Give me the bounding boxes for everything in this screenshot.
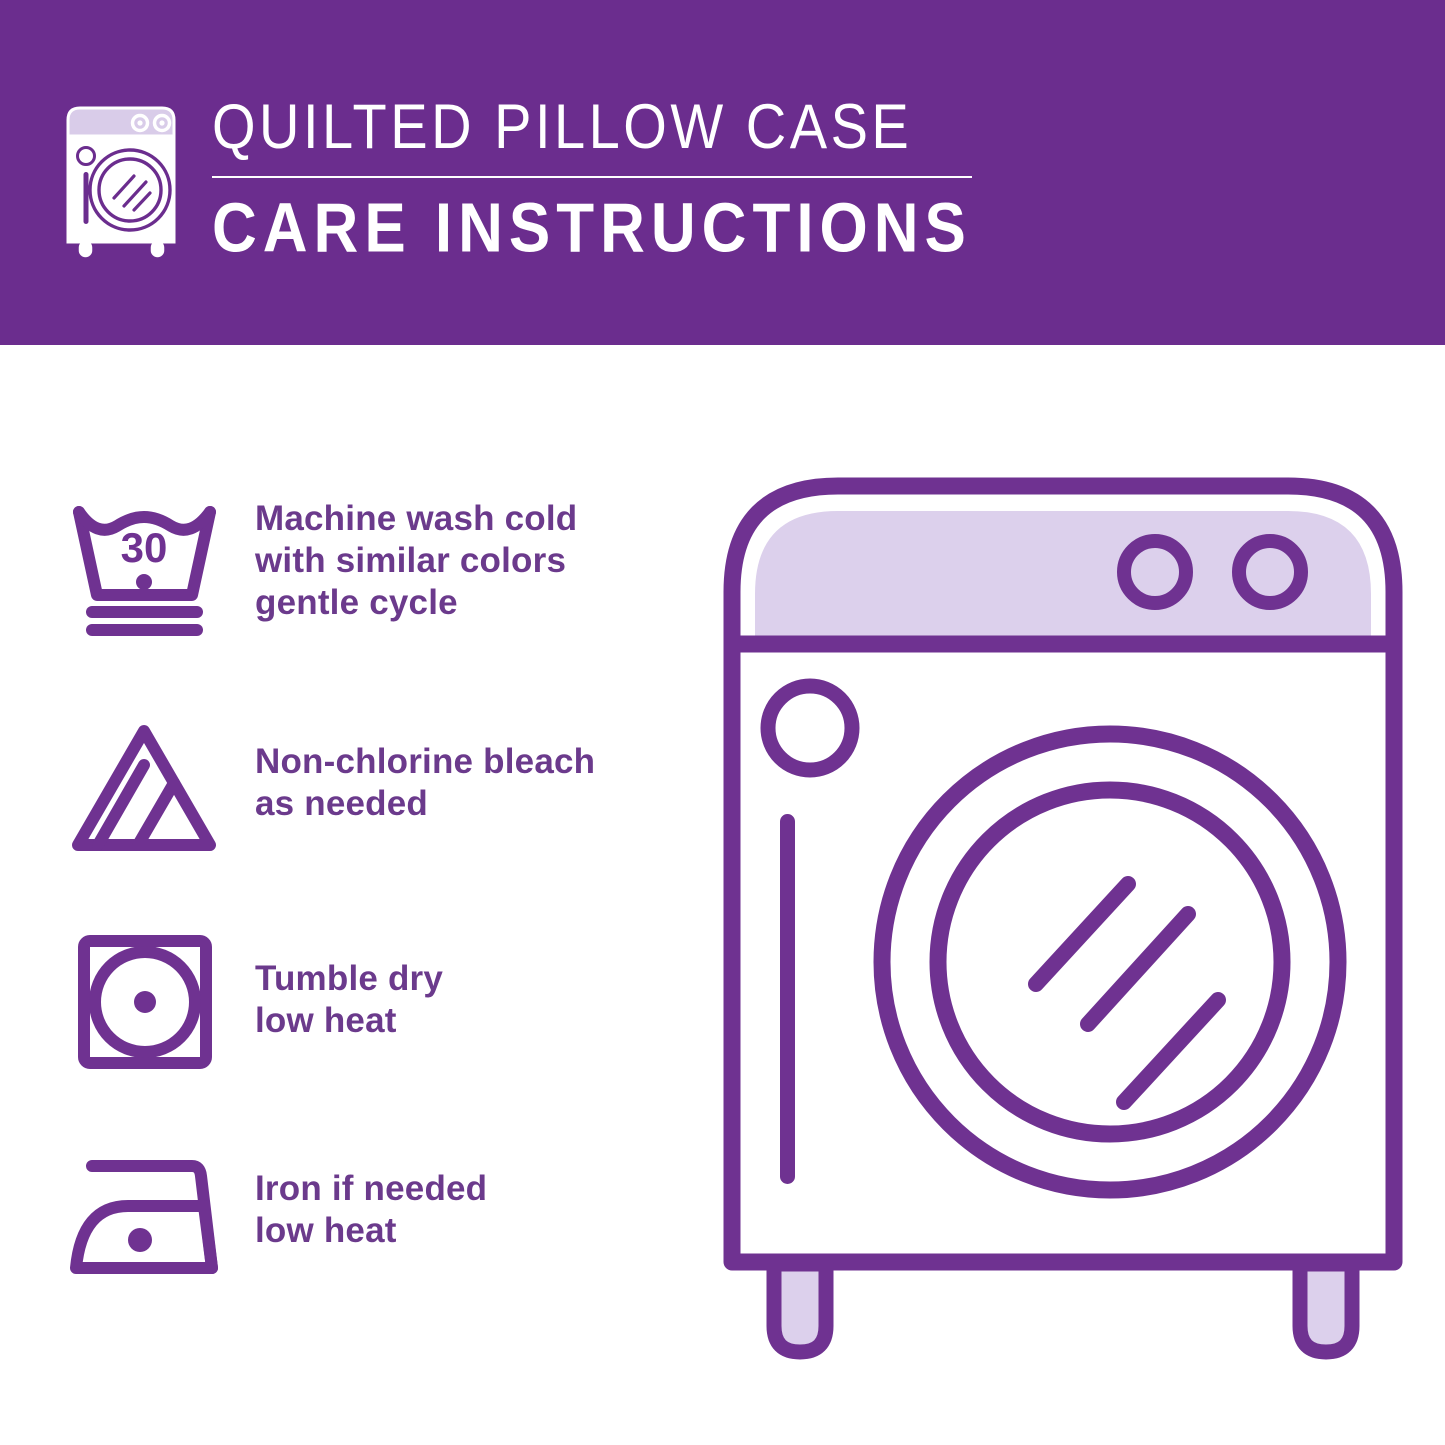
care-line: Iron if needed [255,1168,487,1210]
care-line: Tumble dry [255,958,443,1000]
bleach-triangle-icon [62,713,227,863]
care-line: as needed [255,783,595,825]
product-title: QUILTED PILLOW CASE [212,92,972,161]
care-label-bleach: Non-chlorine bleach as needed [255,713,595,825]
care-row-iron: Iron if needed low heat [62,1140,682,1290]
wash-tub-30-icon: 30 [62,490,227,640]
care-line: with similar colors [255,540,577,582]
washing-machine-icon [60,98,182,258]
care-instructions-list: 30 Machine wash cold with similar colors… [0,345,700,1445]
title-divider [212,176,972,178]
care-label-iron: Iron if needed low heat [255,1140,487,1252]
washing-machine-illustration [718,472,1408,1372]
care-label-machine-wash: Machine wash cold with similar colors ge… [255,490,577,624]
section-title: CARE INSTRUCTIONS [212,190,972,268]
care-line: low heat [255,1210,487,1252]
care-line: low heat [255,1000,443,1042]
header-titles: QUILTED PILLOW CASE CARE INSTRUCTIONS [212,92,972,260]
care-line: Non-chlorine bleach [255,741,595,783]
tumble-dry-icon [62,928,227,1078]
care-line: gentle cycle [255,582,577,624]
care-row-machine-wash: 30 Machine wash cold with similar colors… [62,490,682,640]
header-content: QUILTED PILLOW CASE CARE INSTRUCTIONS [60,92,972,260]
iron-icon [62,1140,227,1290]
care-row-bleach: Non-chlorine bleach as needed [62,713,682,863]
wash-temperature-value: 30 [121,524,168,571]
care-label-tumble-dry: Tumble dry low heat [255,928,443,1042]
care-line: Machine wash cold [255,498,577,540]
header-band: QUILTED PILLOW CASE CARE INSTRUCTIONS [0,0,1445,345]
care-row-tumble-dry: Tumble dry low heat [62,928,682,1078]
